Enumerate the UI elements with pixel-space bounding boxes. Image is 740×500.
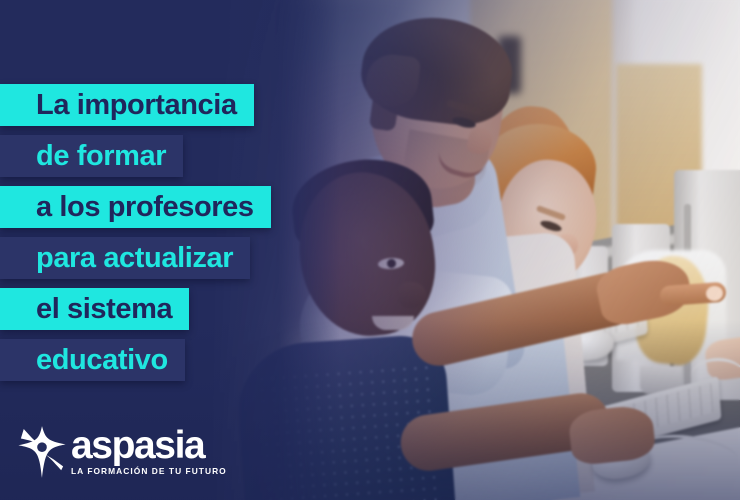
aspasia-promo-banner: La importancia de formar a los profesore…: [0, 0, 740, 500]
headline-line-1: La importancia: [0, 84, 254, 126]
headline-line-2: de formar: [0, 135, 183, 177]
logo-name: aspasia: [71, 428, 228, 464]
logo-wordmark: aspasia LA FORMACIÓN DE TU FUTURO: [71, 428, 228, 477]
headline-line-6: educativo: [0, 339, 185, 381]
headline-block: La importancia de formar a los profesore…: [0, 84, 460, 390]
headline-line-5: el sistema: [0, 288, 189, 330]
star-burst-icon: [18, 426, 66, 478]
headline-line-4: para actualizar: [0, 237, 250, 279]
headline-line-3: a los profesores: [0, 186, 271, 228]
aspasia-logo[interactable]: aspasia LA FORMACIÓN DE TU FUTURO: [18, 426, 228, 478]
logo-tagline: LA FORMACIÓN DE TU FUTURO: [71, 466, 227, 476]
